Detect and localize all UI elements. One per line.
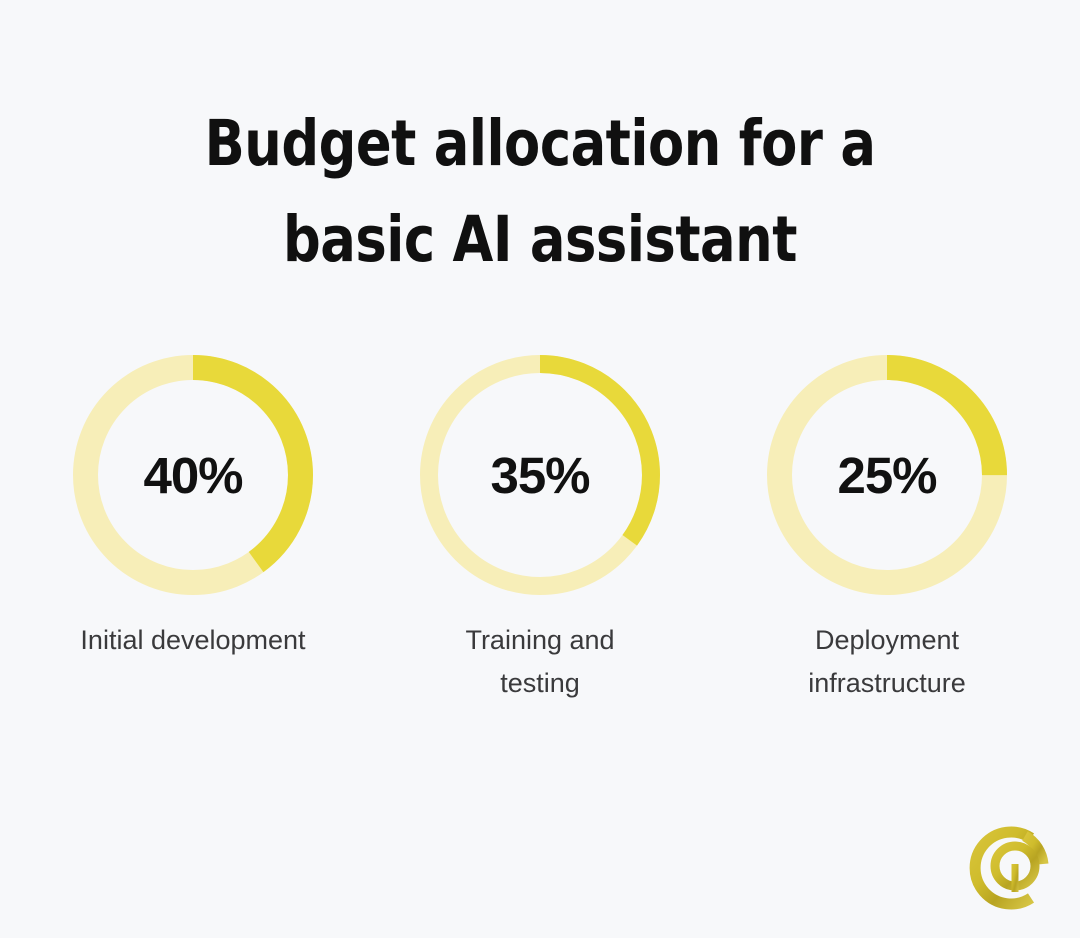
cq-monogram-icon [963, 820, 1059, 916]
gauge-label-1: Initial development [80, 619, 305, 662]
donut-chart-2: 35% [420, 355, 660, 595]
gauge-initial-development: 40% Initial development [20, 355, 367, 662]
donut-value-2: 35% [420, 355, 660, 595]
logo-q-tail [1012, 864, 1019, 892]
donut-chart-1: 40% [73, 355, 313, 595]
page-title: Budget allocation for a basic AI assista… [38, 96, 1042, 288]
gauge-deployment-infrastructure: 25% Deployment infrastructure [714, 355, 1061, 704]
page-title-line-2: basic AI assistant [38, 192, 1042, 288]
donut-gauge-row: 40% Initial development 35% Training and… [0, 355, 1080, 755]
donut-value-3: 25% [767, 355, 1007, 595]
gauge-label-3: Deployment infrastructure [772, 619, 1002, 704]
donut-value-1: 40% [73, 355, 313, 595]
donut-chart-3: 25% [767, 355, 1007, 595]
page-title-line-1: Budget allocation for a [38, 96, 1042, 192]
gauge-label-2: Training and testing [425, 619, 655, 704]
cq-monogram-logo [963, 820, 1059, 916]
gauge-training-and-testing: 35% Training and testing [367, 355, 714, 704]
